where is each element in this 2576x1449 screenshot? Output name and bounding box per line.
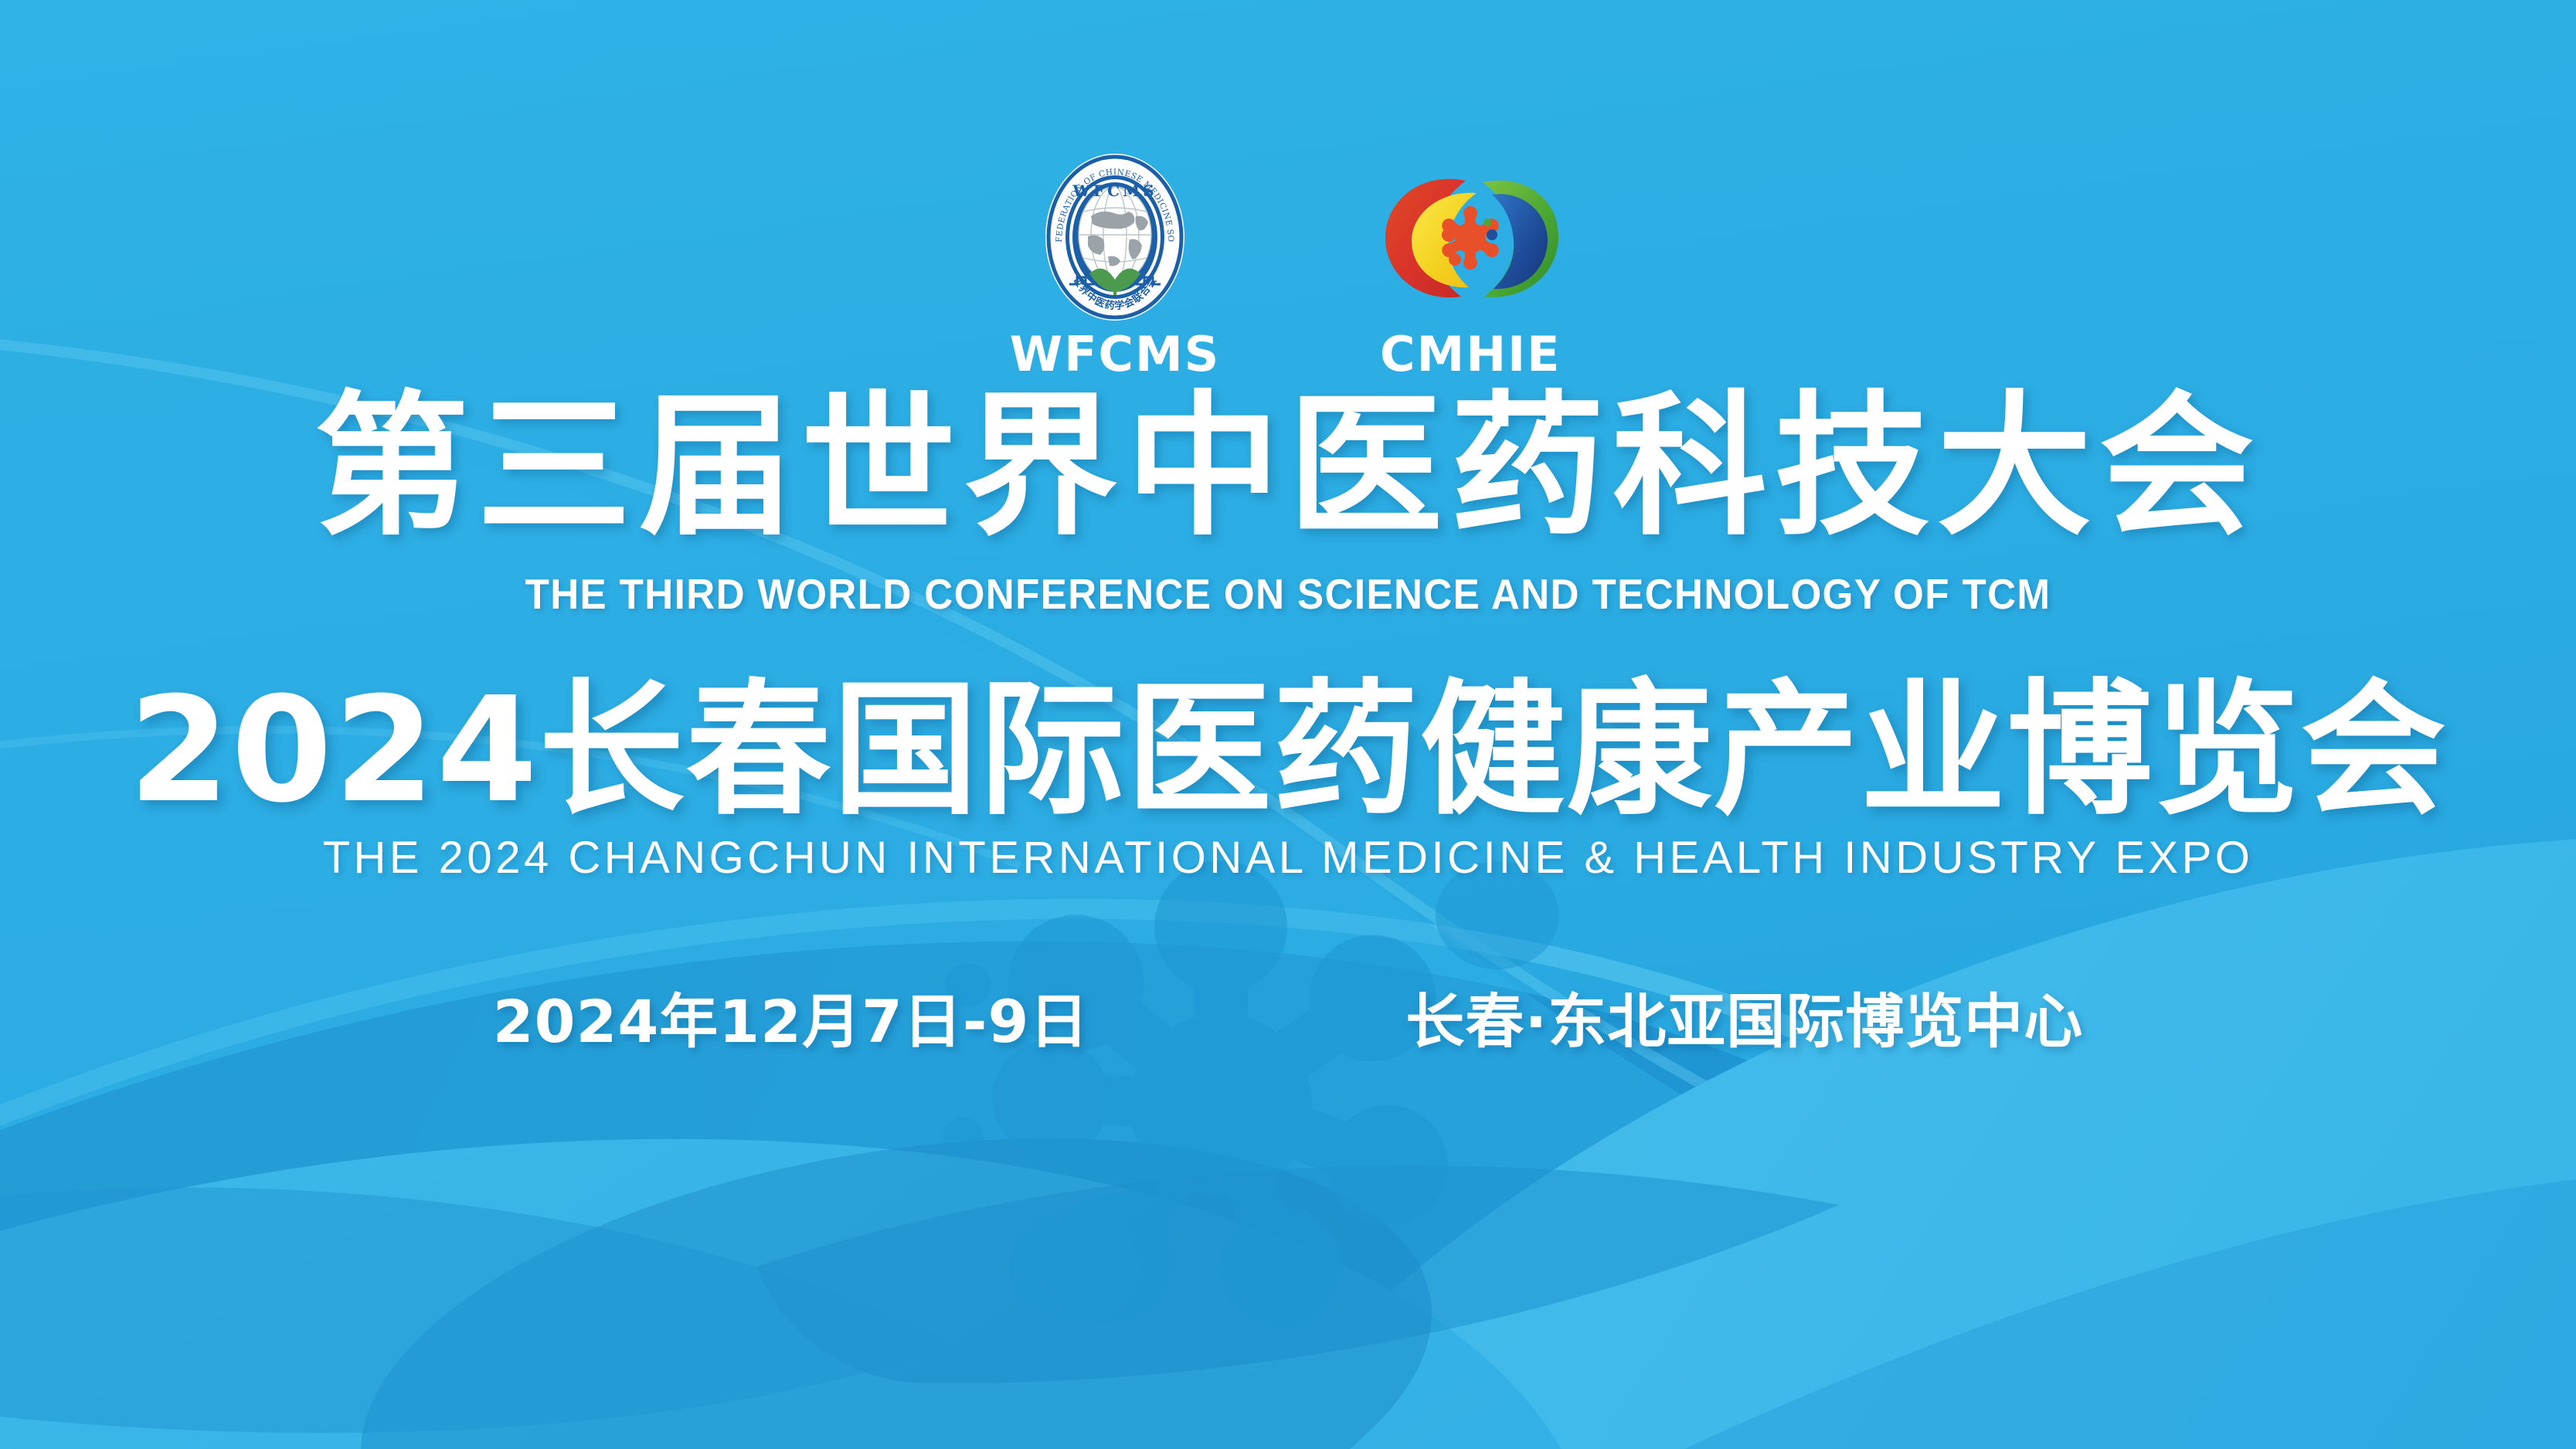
cmhie-ribbon-logo bbox=[1375, 151, 1566, 323]
event-details-row: 2024年12月7日-9日 长春·东北亚国际博览中心 bbox=[0, 993, 2576, 1051]
cmhie-wordmark: CMHIE bbox=[1380, 331, 1562, 378]
expo-title-en: THE 2024 CHANGCHUN INTERNATIONAL MEDICIN… bbox=[0, 836, 2576, 881]
conference-banner: WORLD FEDERATION OF CHINESE MEDICINE SOC… bbox=[0, 0, 2576, 1449]
wfcms-wordmark: WFCMS bbox=[1010, 331, 1221, 378]
wfcms-globe-seal-logo: WORLD FEDERATION OF CHINESE MEDICINE SOC… bbox=[1043, 151, 1187, 323]
wfcms-seal-inner-text: WFCMS bbox=[1072, 182, 1157, 200]
event-date: 2024年12月7日-9日 bbox=[493, 993, 1089, 1051]
cmhie-logo-block: CMHIE bbox=[1375, 151, 1566, 378]
conference-title-cn: 第三届世界中医药科技大会 bbox=[0, 390, 2576, 545]
conference-title-en: THE THIRD WORLD CONFERENCE ON SCIENCE AN… bbox=[90, 573, 2486, 616]
logo-row: WORLD FEDERATION OF CHINESE MEDICINE SOC… bbox=[0, 151, 2576, 378]
wfcms-logo-block: WORLD FEDERATION OF CHINESE MEDICINE SOC… bbox=[1010, 151, 1221, 378]
expo-title-cn: 2024长春国际医药健康产业博览会 bbox=[0, 678, 2576, 823]
event-venue: 长春·东北亚国际博览中心 bbox=[1405, 993, 2083, 1051]
